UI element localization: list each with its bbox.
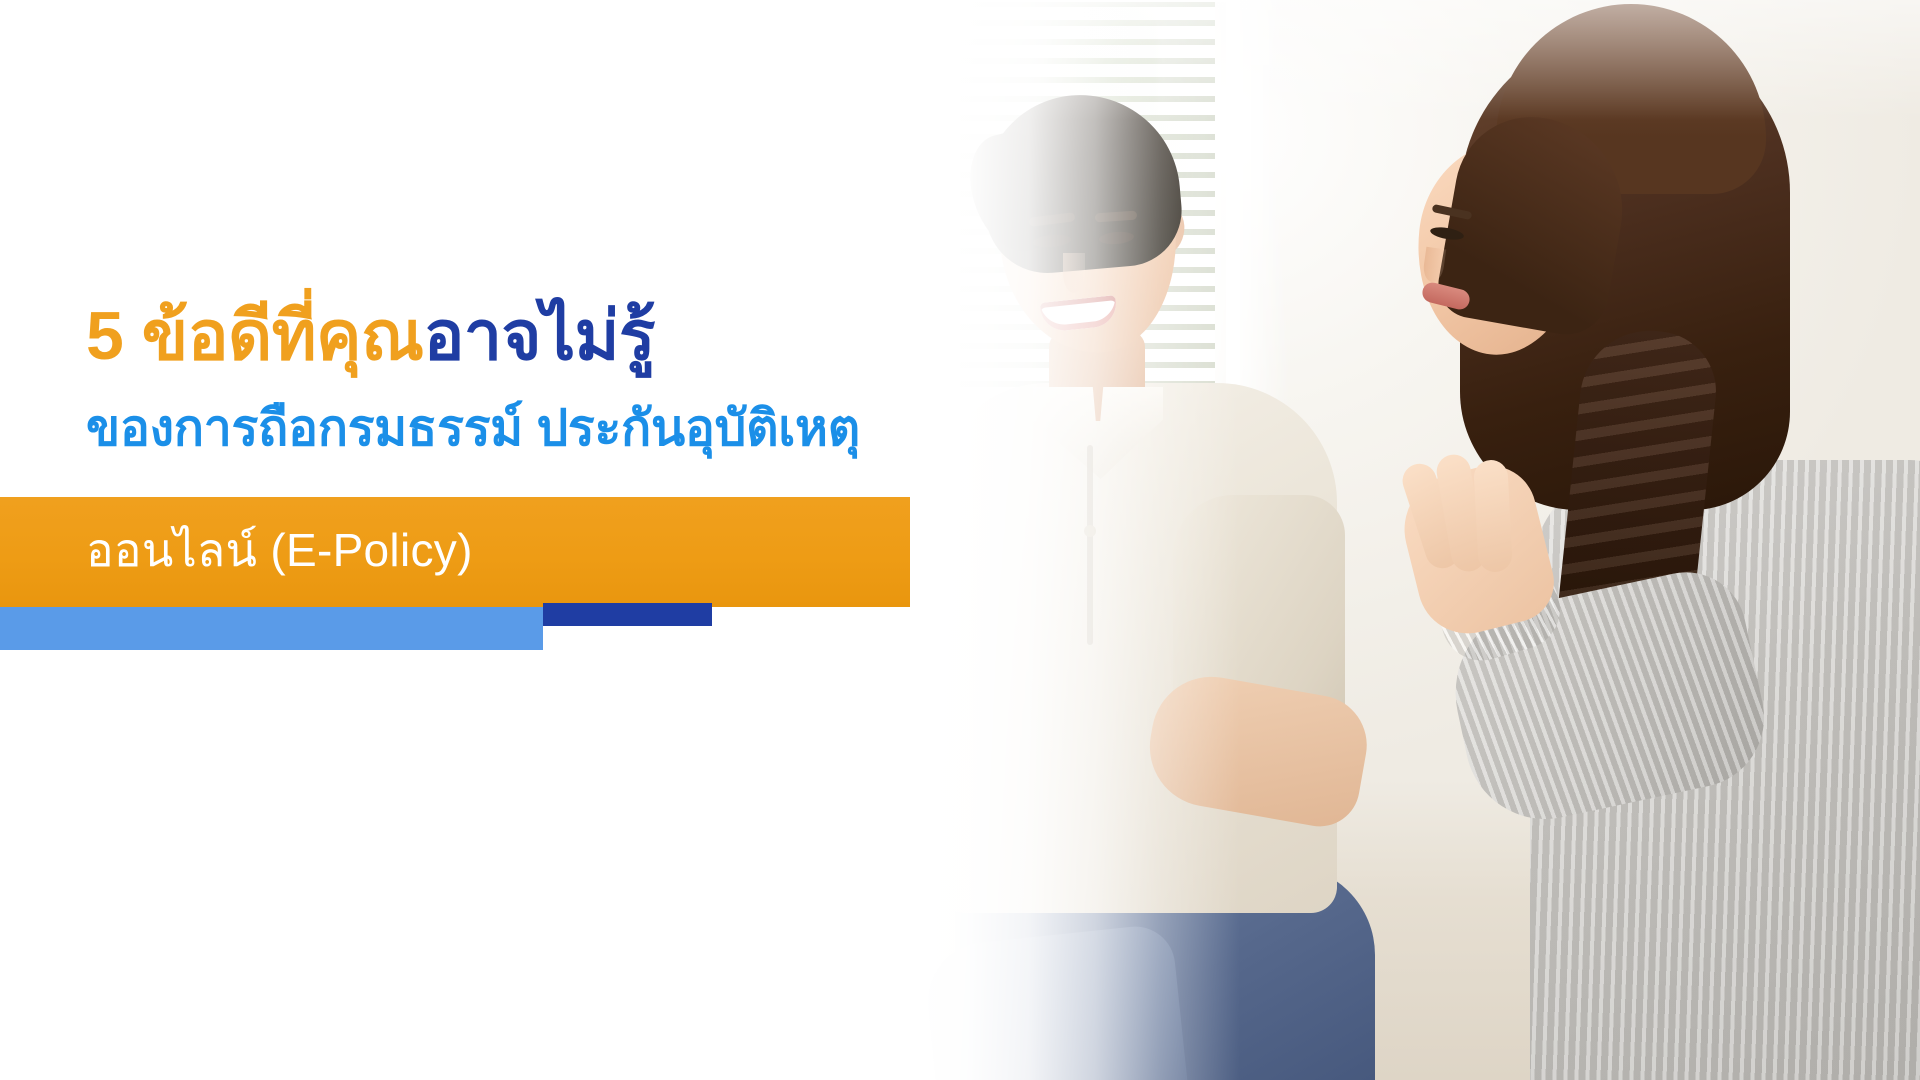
person-man (945, 95, 1305, 1080)
headline-block: 5 ข้อดีที่คุณอาจไม่รู้ (86, 300, 1086, 372)
navy-accent-bar (543, 603, 712, 626)
hero-photo (910, 0, 1920, 1080)
man-shirt-button (1084, 525, 1096, 537)
headline-line-1-orange: 5 ข้อดีที่คุณ (86, 298, 424, 374)
headline-line-1: 5 ข้อดีที่คุณอาจไม่รู้ (86, 300, 1086, 372)
man-shirt-placket (1087, 445, 1093, 645)
promo-banner: 5 ข้อดีที่คุณอาจไม่รู้ ของการถือกรมธรรม์… (0, 0, 1920, 1080)
man-nose (1063, 253, 1085, 293)
headline-line-2: ของการถือกรมธรรม์ ประกันอุบัติเหตุ (86, 400, 860, 456)
headline-line-3: ออนไลน์ (E-Policy) (86, 515, 473, 585)
man-jeans-leg (922, 923, 1198, 1080)
headline-line-1-blue: อาจไม่รู้ (424, 298, 655, 374)
woman-finger-3 (1473, 459, 1513, 573)
light-blue-accent-bar (0, 607, 543, 650)
person-woman (1400, 30, 1920, 1080)
